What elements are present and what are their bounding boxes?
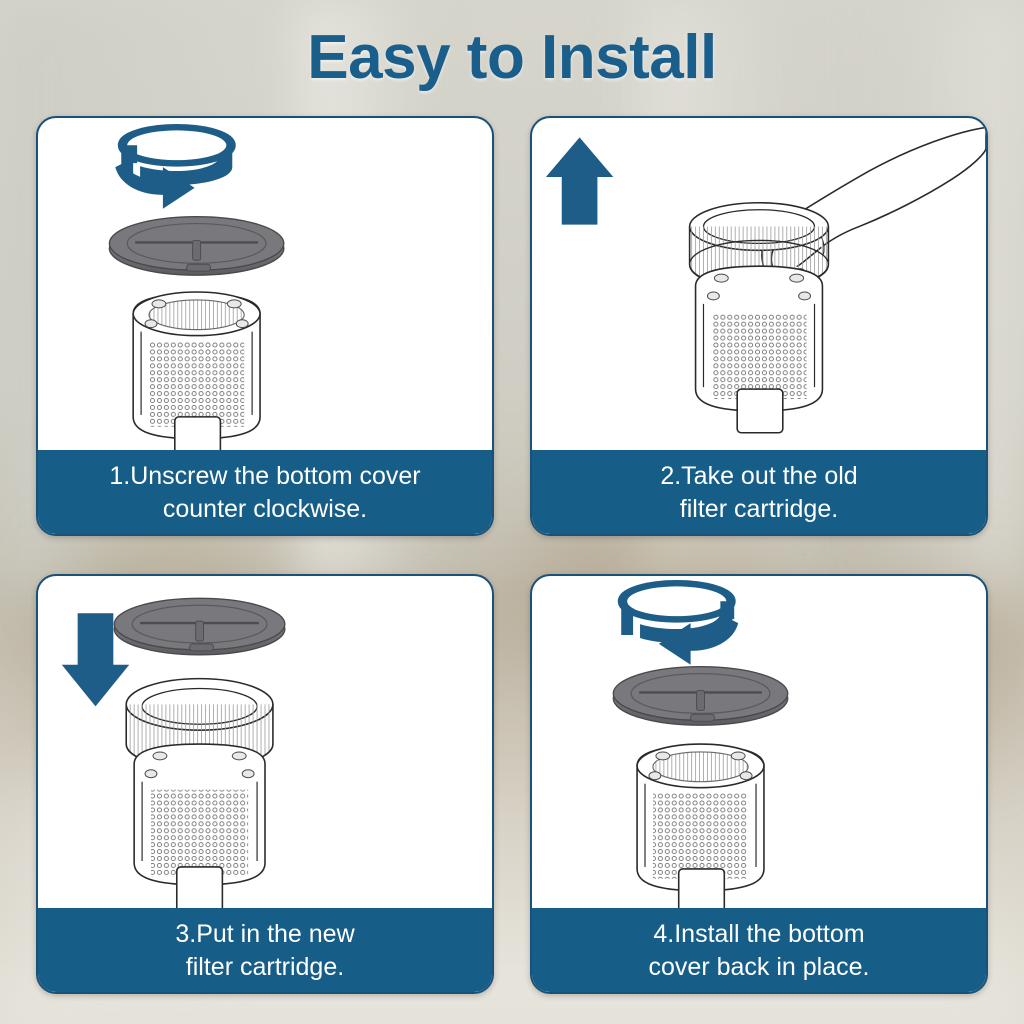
- water-tank-panel: [737, 389, 783, 433]
- rotate-counter-clockwise-arrow: [621, 583, 738, 664]
- caption-line-1: 4.Install the bottom: [653, 918, 864, 951]
- mesh-grille: [711, 314, 806, 399]
- step-1-caption: 1.Unscrew the bottom cover counter clock…: [36, 450, 494, 536]
- infographic-stage: Easy to Install: [0, 0, 1024, 1024]
- step-2-caption: 2.Take out the old filter cartridge.: [530, 450, 988, 536]
- step-card-1: 1.Unscrew the bottom cover counter clock…: [36, 116, 494, 536]
- step-3-illustration: [38, 576, 492, 920]
- step-card-4: 4.Install the bottom cover back in place…: [530, 574, 988, 994]
- mesh-grille: [149, 342, 244, 427]
- caption-line-1: 1.Unscrew the bottom cover: [109, 460, 420, 493]
- arrow-up: [546, 137, 613, 224]
- step-3-caption: 3.Put in the new filter cartridge.: [36, 908, 494, 994]
- mesh-grille: [151, 790, 248, 877]
- caption-line-2: counter clockwise.: [163, 493, 367, 526]
- bottom-cover-disc: [613, 667, 787, 725]
- steps-grid: 1.Unscrew the bottom cover counter clock…: [36, 116, 988, 994]
- step-1-illustration: [38, 118, 492, 462]
- step-4-illustration: [532, 576, 986, 920]
- step-card-3: 3.Put in the new filter cartridge.: [36, 574, 494, 994]
- caption-line-1: 3.Put in the new: [175, 918, 354, 951]
- caption-line-2: filter cartridge.: [680, 493, 838, 526]
- mesh-grille: [653, 794, 748, 879]
- caption-line-1: 2.Take out the old: [660, 460, 857, 493]
- caption-line-2: cover back in place.: [649, 951, 870, 984]
- step-4-caption: 4.Install the bottom cover back in place…: [530, 908, 988, 994]
- step-2-illustration: [532, 118, 986, 462]
- step-card-2: 2.Take out the old filter cartridge.: [530, 116, 988, 536]
- bottom-cover-disc: [114, 598, 284, 655]
- caption-line-2: filter cartridge.: [186, 951, 344, 984]
- rotate-clockwise-arrow: [115, 127, 232, 208]
- bottom-cover-disc: [109, 217, 283, 275]
- page-title: Easy to Install: [0, 22, 1024, 93]
